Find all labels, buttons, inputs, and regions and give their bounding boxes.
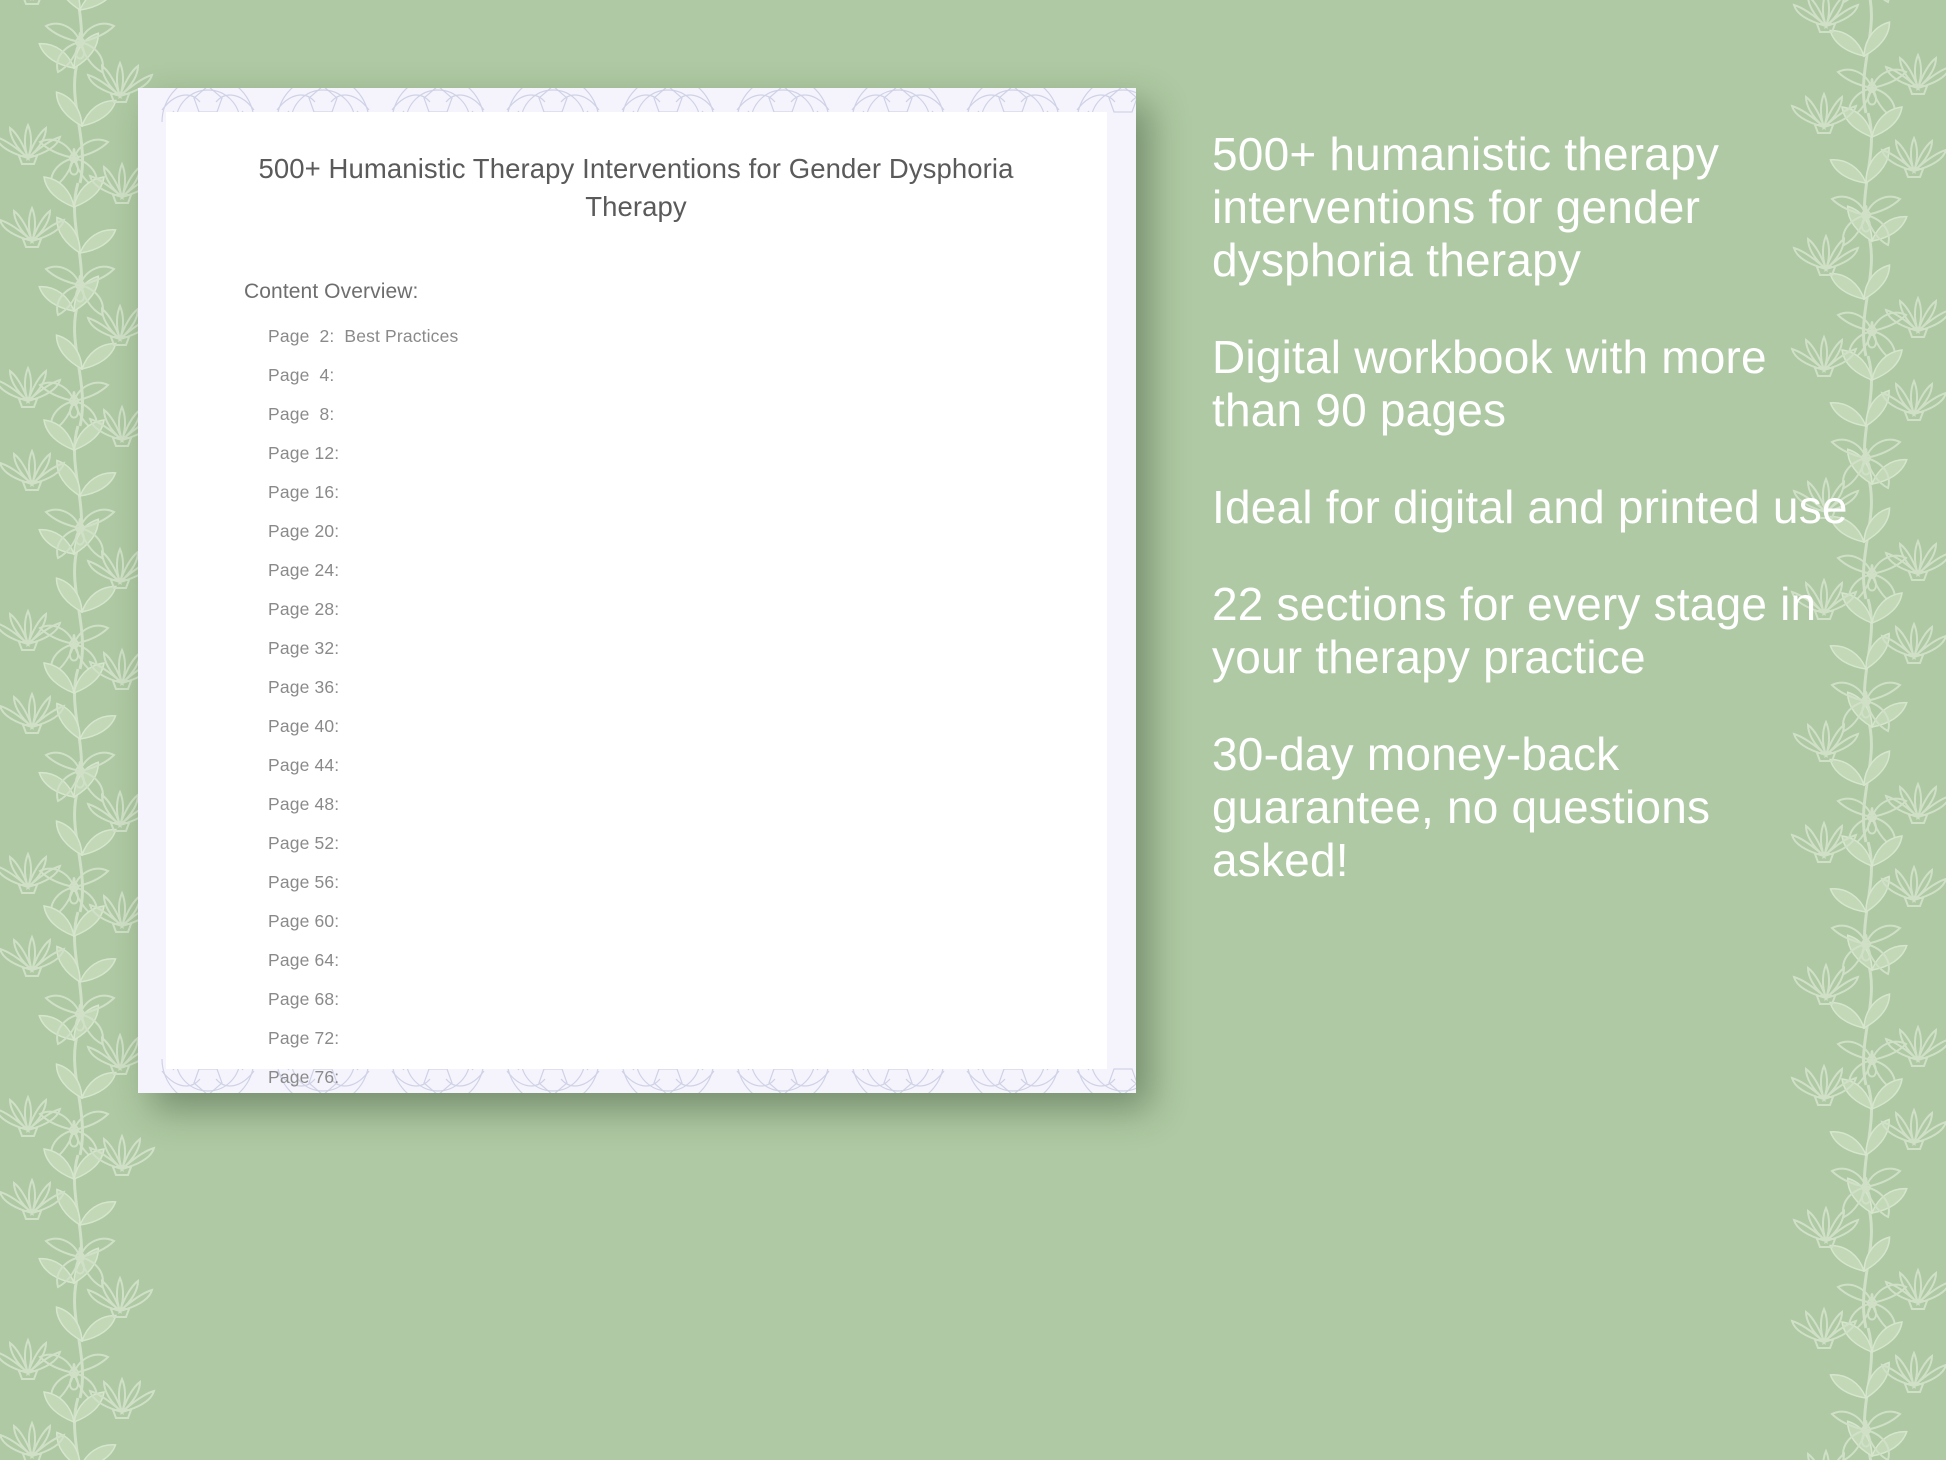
- table-of-contents-row: Page 8:: [268, 404, 1028, 443]
- toc-page-number: Page 36:: [268, 677, 339, 697]
- marketing-bullet: Digital workbook with more than 90 pages: [1212, 331, 1852, 437]
- table-of-contents-row: Page 12:: [268, 443, 1028, 482]
- toc-page-number: Page 64:: [268, 950, 339, 970]
- toc-page-number: Page 12:: [268, 443, 339, 463]
- marketing-bullet: 22 sections for every stage in your ther…: [1212, 578, 1852, 684]
- table-of-contents-list: Page 2: Best PracticesPage 4:Page 8:Page…: [268, 326, 1028, 1093]
- table-of-contents-row: Page 16:: [268, 482, 1028, 521]
- toc-page-number: Page 20:: [268, 521, 339, 541]
- table-of-contents-row: Page 28:: [268, 599, 1028, 638]
- toc-page-number: Page 40:: [268, 716, 339, 736]
- toc-page-number: Page 32:: [268, 638, 339, 658]
- document-page: 500+ Humanistic Therapy Interventions fo…: [166, 112, 1107, 1069]
- toc-page-number: Page 52:: [268, 833, 339, 853]
- table-of-contents-row: Page 76:: [268, 1067, 1028, 1093]
- marketing-bullet: 30-day money-back guarantee, no question…: [1212, 728, 1852, 887]
- page-title: 500+ Humanistic Therapy Interventions fo…: [226, 150, 1046, 226]
- toc-page-number: Page 48:: [268, 794, 339, 814]
- table-of-contents-row: Page 44:: [268, 755, 1028, 794]
- table-of-contents-row: Page 4:: [268, 365, 1028, 404]
- toc-page-number: Page 44:: [268, 755, 339, 775]
- promo-graphic-root: 500+ Humanistic Therapy Interventions fo…: [0, 0, 1946, 1460]
- toc-page-number: Page 2:: [268, 326, 334, 346]
- content-overview-label: Content Overview:: [244, 280, 418, 304]
- marketing-copy: 500+ humanistic therapy interventions fo…: [1212, 128, 1852, 887]
- table-of-contents-row: Page 32:: [268, 638, 1028, 677]
- toc-page-number: Page 8:: [268, 404, 334, 424]
- table-of-contents-row: Page 24:: [268, 560, 1028, 599]
- table-of-contents-row: Page 60:: [268, 911, 1028, 950]
- toc-page-number: Page 24:: [268, 560, 339, 580]
- table-of-contents-row: Page 64:: [268, 950, 1028, 989]
- table-of-contents-row: Page 48:: [268, 794, 1028, 833]
- table-of-contents-row: Page 56:: [268, 872, 1028, 911]
- toc-page-number: Page 56:: [268, 872, 339, 892]
- toc-page-number: Page 72:: [268, 1028, 339, 1048]
- table-of-contents-row: Page 52:: [268, 833, 1028, 872]
- toc-section-label: Best Practices: [334, 326, 458, 346]
- table-of-contents-row: Page 20:: [268, 521, 1028, 560]
- toc-page-number: Page 16:: [268, 482, 339, 502]
- marketing-bullet: Ideal for digital and printed use: [1212, 481, 1852, 534]
- toc-page-number: Page 4:: [268, 365, 334, 385]
- table-of-contents-row: Page 2: Best Practices: [268, 326, 1028, 365]
- toc-page-number: Page 60:: [268, 911, 339, 931]
- toc-page-number: Page 28:: [268, 599, 339, 619]
- table-of-contents-row: Page 40:: [268, 716, 1028, 755]
- table-of-contents-row: Page 68:: [268, 989, 1028, 1028]
- document-preview-card[interactable]: 500+ Humanistic Therapy Interventions fo…: [138, 88, 1136, 1093]
- toc-page-number: Page 68:: [268, 989, 339, 1009]
- marketing-bullet: 500+ humanistic therapy interventions fo…: [1212, 128, 1852, 287]
- table-of-contents-row: Page 36:: [268, 677, 1028, 716]
- table-of-contents-row: Page 72:: [268, 1028, 1028, 1067]
- toc-page-number: Page 76:: [268, 1067, 339, 1087]
